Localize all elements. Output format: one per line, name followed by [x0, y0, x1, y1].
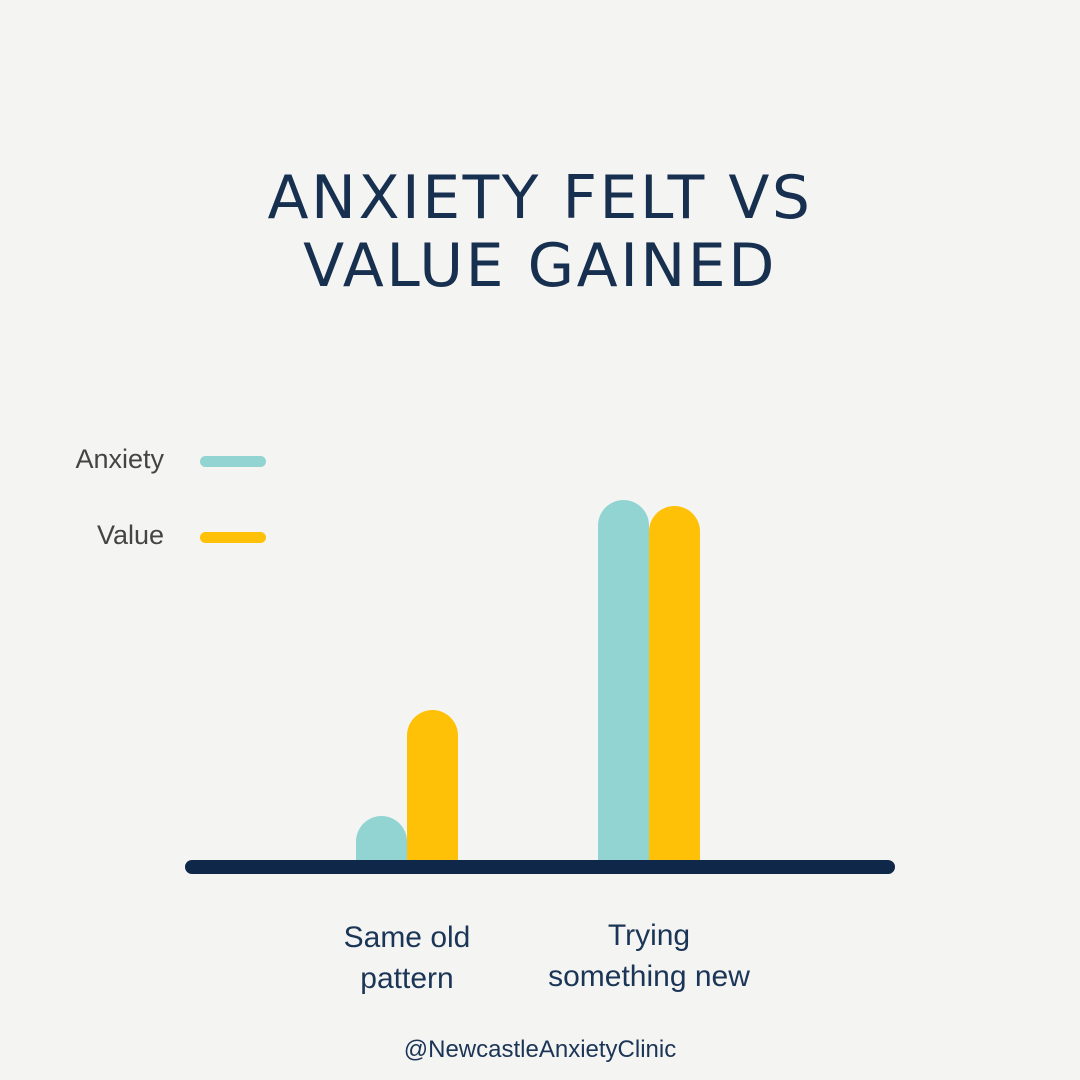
legend-label-value: Value: [97, 520, 164, 551]
category-2-line-2: something new: [509, 956, 789, 997]
category-1-line-1: Same old: [287, 917, 527, 958]
legend-item-value: Value: [40, 512, 280, 588]
legend-label-anxiety: Anxiety: [75, 444, 164, 475]
category-2-line-1: Trying: [509, 915, 789, 956]
title-line-1: ANXIETY FELT VS: [0, 164, 1080, 232]
bar-anxiety-same-old-pattern: [356, 816, 407, 862]
category-label-same-old-pattern: Same old pattern: [287, 917, 527, 999]
chart-legend: Anxiety Value: [40, 436, 280, 588]
title-line-2: VALUE GAINED: [0, 232, 1080, 300]
legend-item-anxiety: Anxiety: [40, 436, 280, 512]
poster-canvas: ANXIETY FELT VS VALUE GAINED Anxiety Val…: [0, 0, 1080, 1080]
chart-baseline-axis: [185, 860, 895, 874]
bar-value-trying-something-new: [649, 506, 700, 862]
page-title: ANXIETY FELT VS VALUE GAINED: [0, 164, 1080, 300]
bar-value-same-old-pattern: [407, 710, 458, 862]
category-label-trying-something-new: Trying something new: [509, 915, 789, 997]
bar-anxiety-trying-something-new: [598, 500, 649, 862]
anxiety-swatch-icon: [200, 456, 266, 467]
social-handle: @NewcastleAnxietyClinic: [0, 1036, 1080, 1064]
value-swatch-icon: [200, 532, 266, 543]
category-1-line-2: pattern: [287, 958, 527, 999]
